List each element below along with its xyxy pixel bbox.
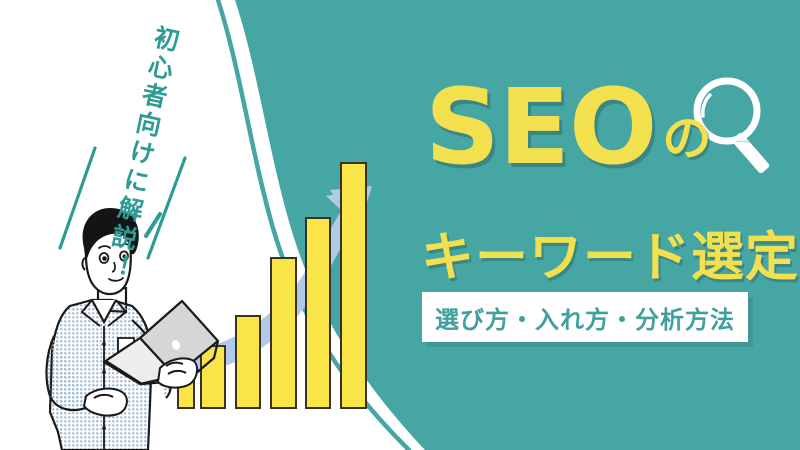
headline-particle: の	[662, 114, 711, 163]
bar-3	[236, 316, 260, 408]
bar-4	[271, 258, 296, 408]
headline-main-row: SEO の	[425, 78, 711, 177]
bar-2	[201, 346, 225, 408]
supporting-hand	[84, 389, 127, 416]
banner-canvas: 初心者向けに解説！ SEO の キーワード選定 選び方・入れ方・分析方法	[0, 0, 800, 450]
headline-second-line: キーワード選定	[421, 215, 799, 291]
bar-5	[306, 218, 330, 408]
bar-6	[341, 163, 366, 408]
headline-seo: SEO	[425, 78, 656, 177]
subtitle-box: 選び方・入れ方・分析方法	[422, 292, 748, 342]
subtitle-text: 選び方・入れ方・分析方法	[435, 300, 735, 335]
